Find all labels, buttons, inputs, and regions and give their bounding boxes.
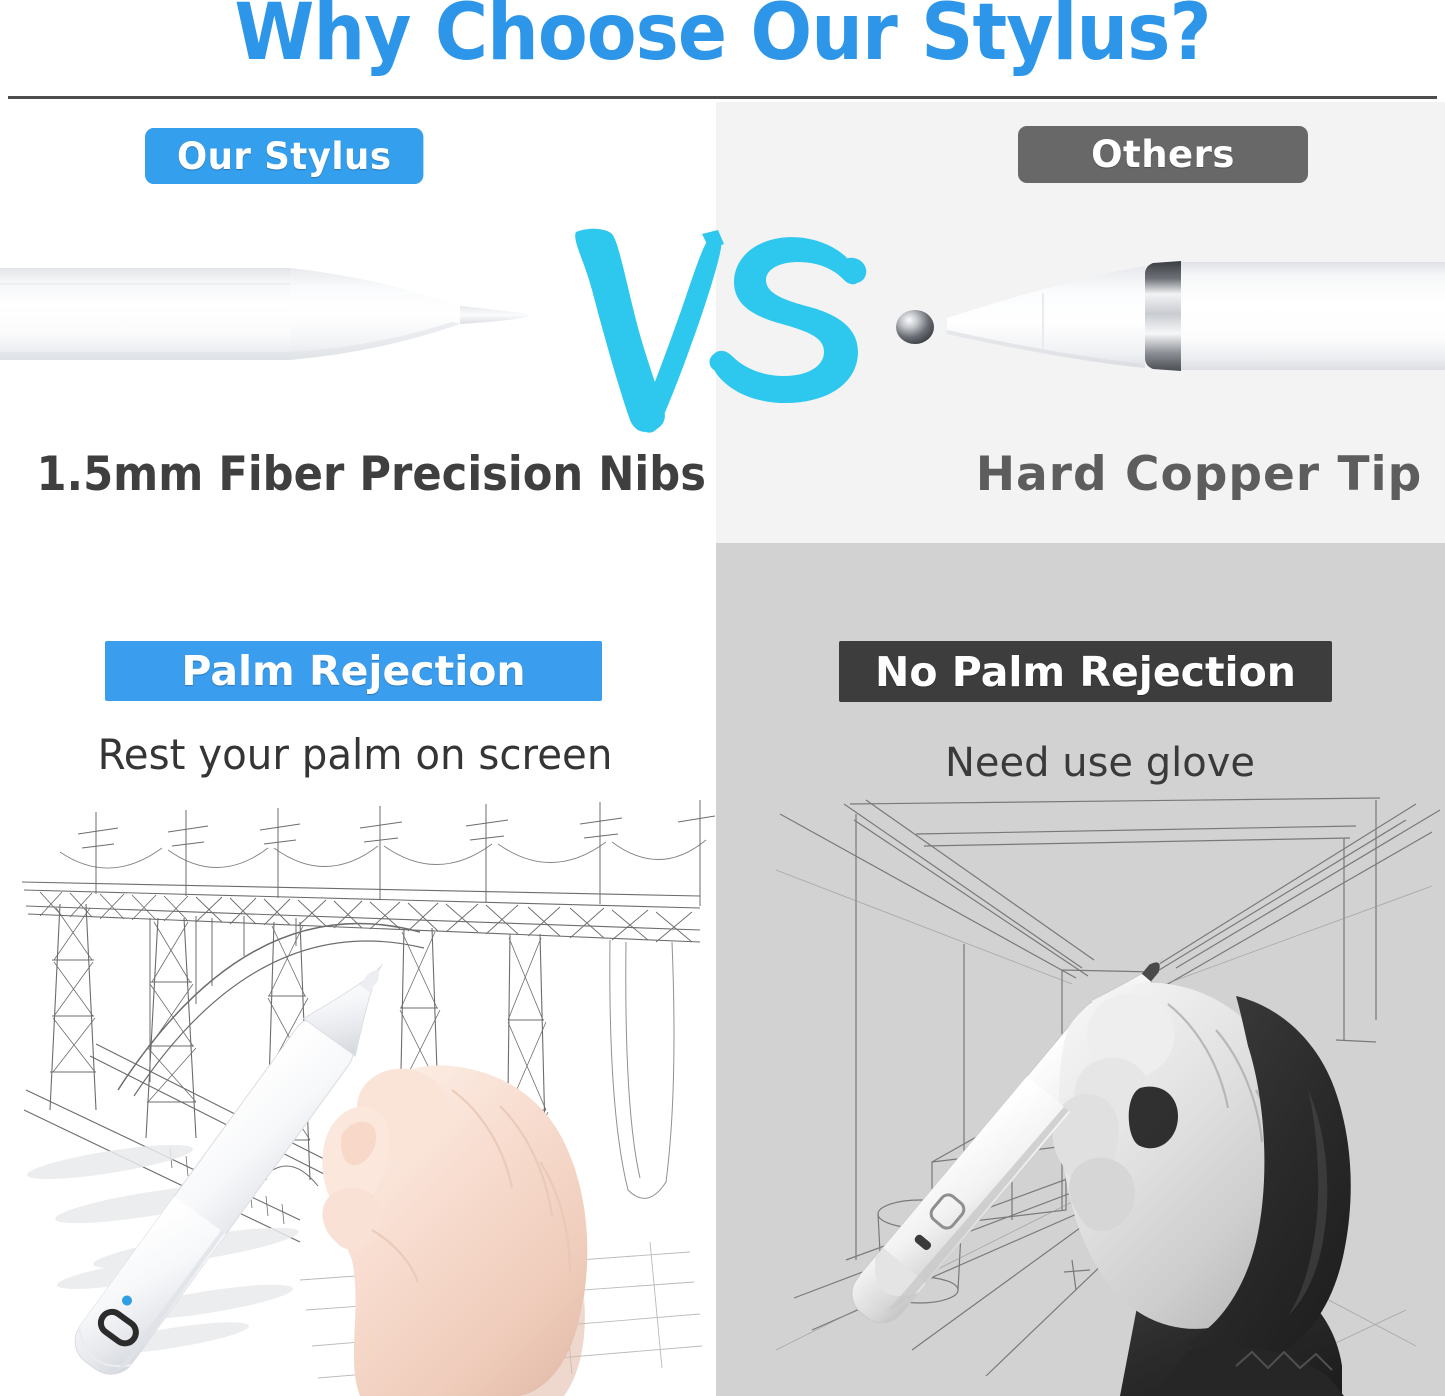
- badge-others: Others: [1018, 126, 1308, 183]
- badge-palm-rejection: Palm Rejection: [105, 641, 602, 701]
- badge-palm-rejection-label: Palm Rejection: [181, 647, 525, 695]
- versus-brush-mark: [566, 224, 878, 446]
- bare-hand-drawing-bridge-sketch: [0, 790, 715, 1396]
- caption-need-use-glove: Need use glove: [880, 740, 1320, 786]
- stylus-comparison-infographic: Why Choose Our Stylus? Our Stylus: [0, 0, 1445, 1396]
- badge-our-stylus-label: Our Stylus: [177, 135, 392, 178]
- badge-no-palm-rejection: No Palm Rejection: [839, 641, 1332, 702]
- badge-our-stylus: Our Stylus: [145, 128, 423, 184]
- badge-no-palm-rejection-label: No Palm Rejection: [875, 648, 1296, 696]
- fiber-tip-stylus-illustration: [0, 248, 560, 378]
- gloved-hand-drawing-interior-sketch: [716, 790, 1445, 1396]
- caption-fiber-precision-nibs: 1.5mm Fiber Precision Nibs: [37, 447, 602, 502]
- copper-ball-tip-stylus-illustration: [895, 246, 1445, 386]
- badge-others-label: Others: [1091, 133, 1235, 176]
- caption-hard-copper-tip: Hard Copper Tip: [975, 447, 1423, 502]
- page-title: Why Choose Our Stylus?: [51, 0, 1395, 72]
- caption-rest-your-palm: Rest your palm on screen: [53, 730, 658, 779]
- header-divider: [8, 96, 1437, 99]
